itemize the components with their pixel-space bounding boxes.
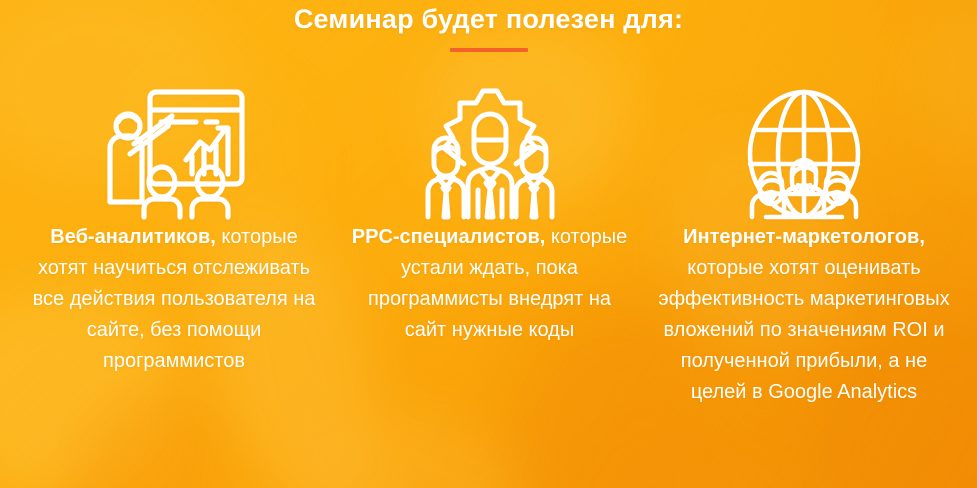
page-title: Семинар будет полезен для:: [0, 0, 977, 36]
team-gear-icon: [340, 86, 640, 222]
benefit-body-internet-marketers: которые хотят оценивать эффективность ма…: [658, 257, 949, 403]
benefit-columns: Веб-аналитиков, которые хотят научиться …: [0, 86, 977, 408]
globe-people-icon: [649, 86, 959, 222]
presentation-chart-audience-icon: [18, 86, 330, 222]
benefit-text-ppc-specialists: PPC-специалистов, которые устали ждать, …: [340, 222, 640, 346]
benefit-column-web-analysts: Веб-аналитиков, которые хотят научиться …: [18, 86, 330, 377]
benefit-text-web-analysts: Веб-аналитиков, которые хотят научиться …: [18, 222, 330, 377]
benefit-column-internet-marketers: Интернет-маркетологов, которые хотят оце…: [649, 86, 959, 408]
benefit-lead-internet-marketers: Интернет-маркетологов,: [683, 226, 925, 248]
slide-root: Семинар будет полезен для:: [0, 0, 977, 488]
benefit-text-internet-marketers: Интернет-маркетологов, которые хотят оце…: [649, 222, 959, 408]
benefit-column-ppc-specialists: PPC-специалистов, которые устали ждать, …: [340, 86, 640, 346]
benefit-lead-web-analysts: Веб-аналитиков,: [50, 226, 216, 248]
benefit-lead-ppc-specialists: PPC-специалистов,: [352, 226, 546, 248]
header: Семинар будет полезен для:: [0, 0, 977, 52]
title-underline-rule: [450, 48, 528, 52]
